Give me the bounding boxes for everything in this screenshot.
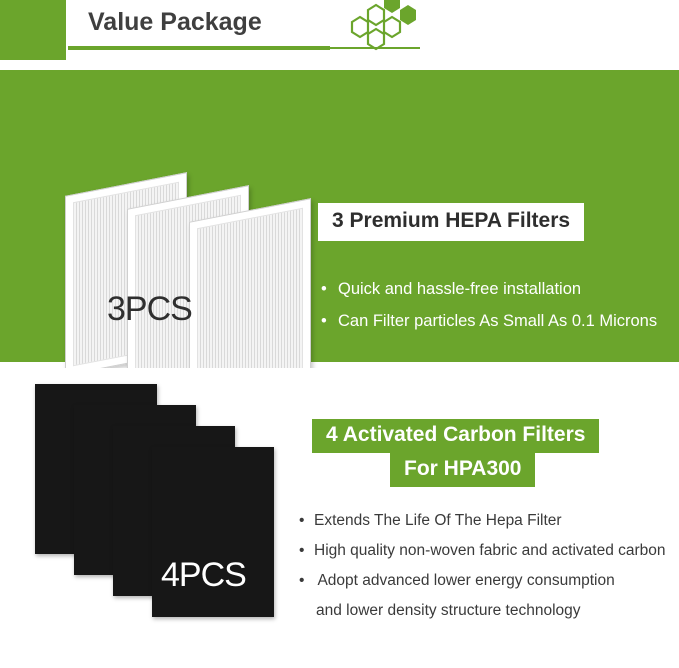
hepa-feature-list: Quick and hassle-free installation Can F… xyxy=(320,276,660,340)
carbon-feature-list: Extends The Life Of The Hepa Filter High… xyxy=(298,506,678,626)
list-item: High quality non-woven fabric and activa… xyxy=(314,536,678,566)
hepa-section-panel: 3PCS R Filter 3 Premium HEPA Filters Qui… xyxy=(0,70,679,362)
list-item: Adopt advanced lower energy consumption … xyxy=(314,566,678,626)
list-item-continuation: and lower density structure technology xyxy=(314,596,678,626)
hepa-title-text: 3 Premium HEPA Filters xyxy=(332,209,570,232)
carbon-title-line2: For HPA300 xyxy=(390,453,535,487)
honeycomb-icon xyxy=(322,0,432,58)
list-item: Extends The Life Of The Hepa Filter xyxy=(314,506,678,536)
list-item-text: Adopt advanced lower energy consumption xyxy=(317,572,614,589)
hepa-pleats xyxy=(197,208,303,393)
carbon-pack-count-label: 4PCS xyxy=(161,556,246,595)
hepa-pack-count-label: 3PCS xyxy=(107,290,192,329)
header: Value Package xyxy=(0,0,679,62)
header-green-block xyxy=(0,0,66,60)
list-item: Can Filter particles As Small As 0.1 Mic… xyxy=(338,308,660,335)
page-title: Value Package xyxy=(88,8,262,37)
carbon-filter-illustration: 4PCS xyxy=(28,375,308,615)
list-item: Quick and hassle-free installation xyxy=(338,276,660,303)
carbon-title-line1: 4 Activated Carbon Filters xyxy=(312,419,599,453)
header-divider-thick xyxy=(68,46,330,50)
hepa-title-badge: 3 Premium HEPA Filters xyxy=(318,203,584,241)
